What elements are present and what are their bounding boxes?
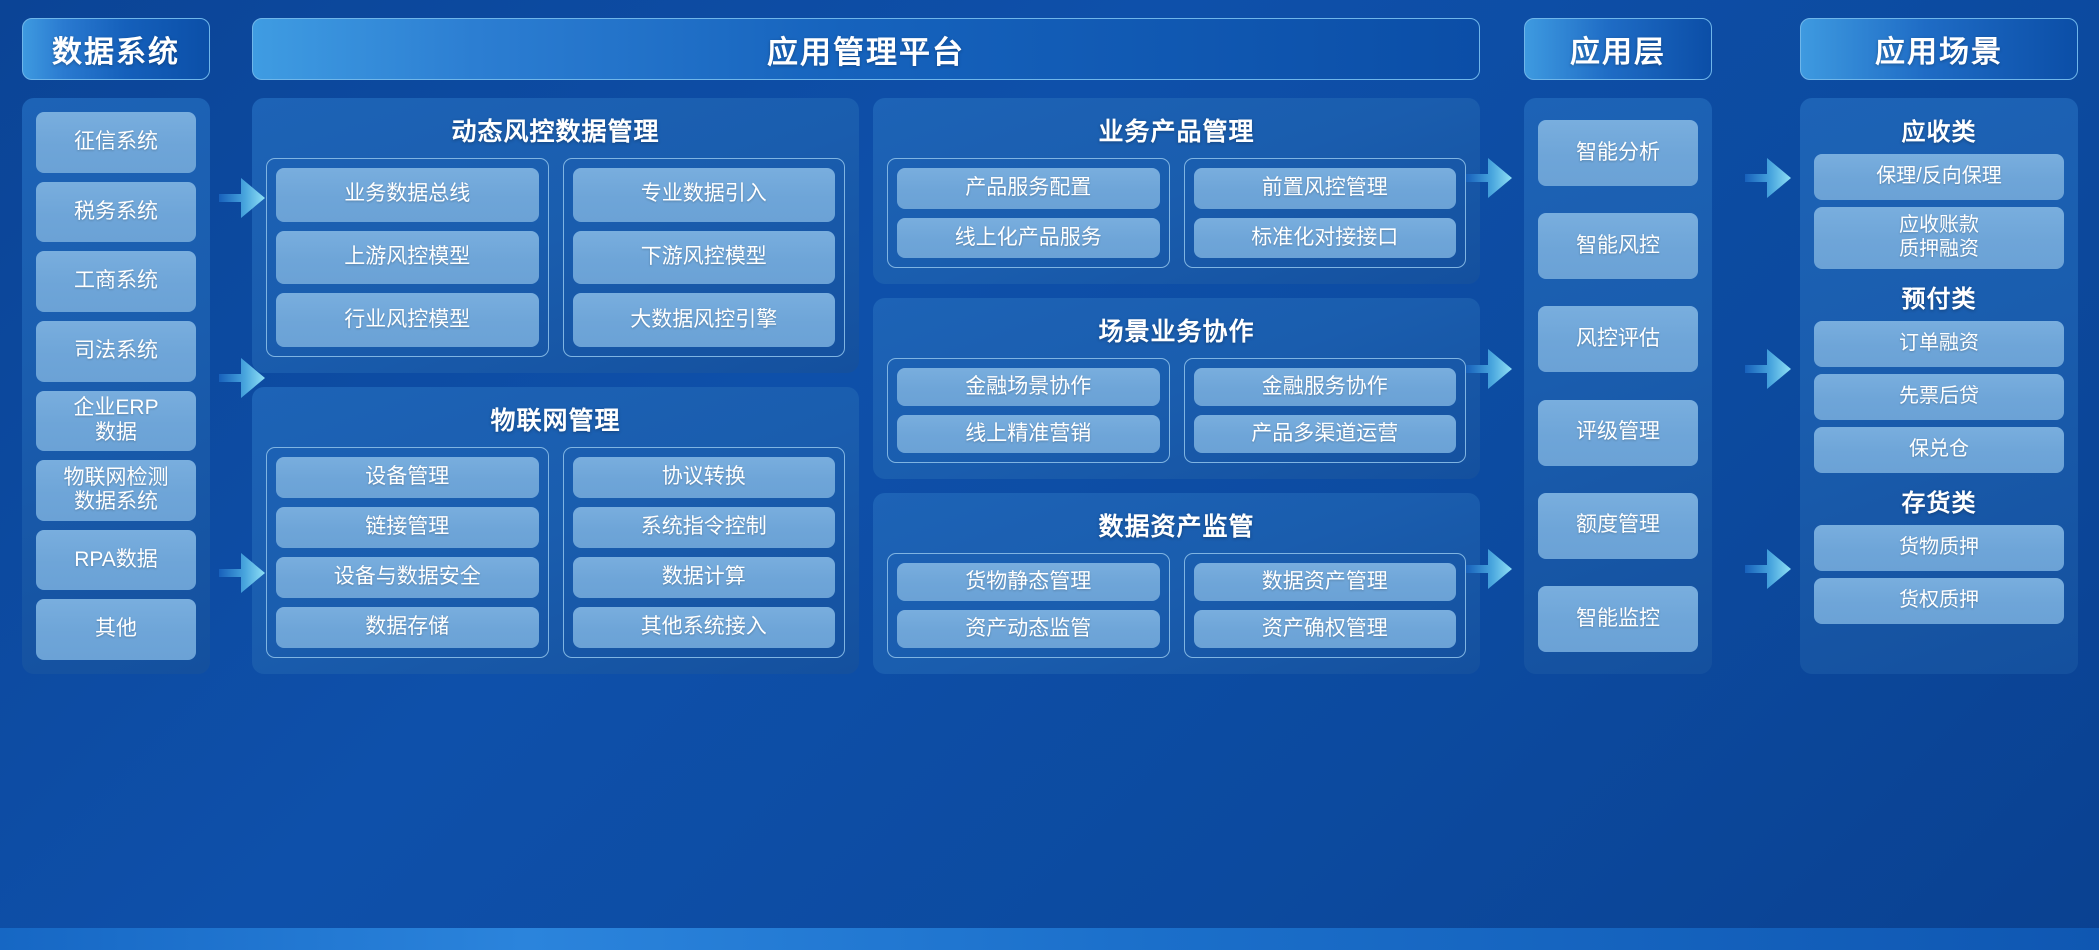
subcolumns-dynamic-risk: 业务数据总线 上游风控模型 行业风控模型 专业数据引入 下游风控模型 大数据风控… <box>266 158 845 357</box>
chip-device-management[interactable]: 设备管理 <box>276 457 539 498</box>
chip-order-financing[interactable]: 订单融资 <box>1814 321 2064 367</box>
group-title-dynamic-risk: 动态风控数据管理 <box>266 112 845 148</box>
chip-product-service-config[interactable]: 产品服务配置 <box>897 168 1160 209</box>
arrow-applayer-to-scenario-bot-icon <box>1745 543 1791 589</box>
column-application-layer: 应用层 智能分析 智能风控 风控评估 评级管理 额度管理 智能监控 <box>1524 18 1712 674</box>
subcolumns-iot: 设备管理 链接管理 设备与数据安全 数据存储 协议转换 系统指令控制 数据计算 … <box>266 447 845 658</box>
chip-credit-system[interactable]: 征信系统 <box>36 112 196 173</box>
header-application-layer: 应用层 <box>1524 18 1712 80</box>
chip-professional-data-intake[interactable]: 专业数据引入 <box>573 168 836 222</box>
arrow-platform-to-applayer-top-icon <box>1466 152 1512 198</box>
chip-intelligent-analysis[interactable]: 智能分析 <box>1538 120 1698 186</box>
panel-platform: 动态风控数据管理 业务数据总线 上游风控模型 行业风控模型 专业数据引入 下游风… <box>252 98 1480 674</box>
arrow-applayer-to-scenario-mid-icon <box>1745 343 1791 389</box>
chip-guaranteed-warehouse[interactable]: 保兑仓 <box>1814 427 2064 473</box>
subbox-data-asset-left: 货物静态管理 资产动态监管 <box>887 553 1170 658</box>
chip-business-data-bus[interactable]: 业务数据总线 <box>276 168 539 222</box>
chip-rpa-data[interactable]: RPA数据 <box>36 530 196 591</box>
chip-tax-system[interactable]: 税务系统 <box>36 182 196 243</box>
chip-asset-dynamic-supervision[interactable]: 资产动态监管 <box>897 610 1160 648</box>
chip-asset-ownership-management[interactable]: 资产确权管理 <box>1194 610 1457 648</box>
group-title-iot: 物联网管理 <box>266 401 845 437</box>
arrow-platform-to-applayer-bot-icon <box>1466 543 1512 589</box>
chip-credit-limit-management[interactable]: 额度管理 <box>1538 493 1698 559</box>
chip-data-storage[interactable]: 数据存储 <box>276 607 539 648</box>
chip-intelligent-monitoring[interactable]: 智能监控 <box>1538 586 1698 652</box>
chip-business-system[interactable]: 工商系统 <box>36 251 196 312</box>
group-business-product-management: 业务产品管理 产品服务配置 线上化产品服务 前置风控管理 标准化对接接口 <box>873 98 1480 284</box>
subcolumns-data-asset: 货物静态管理 资产动态监管 数据资产管理 资产确权管理 <box>887 553 1466 658</box>
arrow-applayer-to-scenario-top-icon <box>1745 152 1791 198</box>
scenario-group-title-prepaid: 预付类 <box>1814 279 2064 314</box>
chip-note-then-loan[interactable]: 先票后贷 <box>1814 374 2064 420</box>
subbox-scenario-collaboration-right: 金融服务协作 产品多渠道运营 <box>1184 358 1467 463</box>
subcolumns-scenario-collaboration: 金融场景协作 线上精准营销 金融服务协作 产品多渠道运营 <box>887 358 1466 463</box>
subbox-iot-left: 设备管理 链接管理 设备与数据安全 数据存储 <box>266 447 549 658</box>
chip-multichannel-operation[interactable]: 产品多渠道运营 <box>1194 415 1457 453</box>
column-platform: 应用管理平台 动态风控数据管理 业务数据总线 上游风控模型 行业风控模型 专业数… <box>252 18 1480 674</box>
platform-column-right: 业务产品管理 产品服务配置 线上化产品服务 前置风控管理 标准化对接接口 场景业… <box>873 98 1480 674</box>
chip-industry-risk-model[interactable]: 行业风控模型 <box>276 293 539 347</box>
chip-online-precision-marketing[interactable]: 线上精准营销 <box>897 415 1160 453</box>
arrow-data-to-platform-mid-icon <box>219 352 265 398</box>
chip-data-asset-management[interactable]: 数据资产管理 <box>1194 563 1457 601</box>
header-data-systems: 数据系统 <box>22 18 210 80</box>
header-scenarios: 应用场景 <box>1800 18 2078 80</box>
scenario-group-title-inventory: 存货类 <box>1814 483 2064 518</box>
chip-online-product-service[interactable]: 线上化产品服务 <box>897 218 1160 259</box>
subbox-business-product-right: 前置风控管理 标准化对接接口 <box>1184 158 1467 268</box>
chip-bigdata-risk-engine[interactable]: 大数据风控引擎 <box>573 293 836 347</box>
group-title-data-asset-supervision: 数据资产监管 <box>887 507 1466 543</box>
panel-scenarios: 应收类 保理/反向保理 应收账款 质押融资 预付类 订单融资 先票后贷 保兑仓 … <box>1800 98 2078 674</box>
arrow-data-to-platform-bottom-icon <box>219 547 265 593</box>
group-scenario-business-collaboration: 场景业务协作 金融场景协作 线上精准营销 金融服务协作 产品多渠道运营 <box>873 298 1480 479</box>
chip-upstream-risk-model[interactable]: 上游风控模型 <box>276 231 539 285</box>
chip-standard-interface[interactable]: 标准化对接接口 <box>1194 218 1457 259</box>
platform-column-left: 动态风控数据管理 业务数据总线 上游风控模型 行业风控模型 专业数据引入 下游风… <box>252 98 859 674</box>
subbox-dynamic-risk-left: 业务数据总线 上游风控模型 行业风控模型 <box>266 158 549 357</box>
chip-data-computation[interactable]: 数据计算 <box>573 557 836 598</box>
chip-financial-scenario-collab[interactable]: 金融场景协作 <box>897 368 1160 406</box>
chip-erp-data[interactable]: 企业ERP 数据 <box>36 391 196 452</box>
chip-link-management[interactable]: 链接管理 <box>276 507 539 548</box>
chip-protocol-conversion[interactable]: 协议转换 <box>573 457 836 498</box>
chip-preposed-risk-management[interactable]: 前置风控管理 <box>1194 168 1457 209</box>
subbox-iot-right: 协议转换 系统指令控制 数据计算 其他系统接入 <box>563 447 846 658</box>
chip-judicial-system[interactable]: 司法系统 <box>36 321 196 382</box>
arrow-data-to-platform-top-icon <box>219 172 265 218</box>
group-dynamic-risk-data-management: 动态风控数据管理 业务数据总线 上游风控模型 行业风控模型 专业数据引入 下游风… <box>252 98 859 373</box>
chip-other[interactable]: 其他 <box>36 599 196 660</box>
chip-intelligent-riskctrl[interactable]: 智能风控 <box>1538 213 1698 279</box>
group-iot-management: 物联网管理 设备管理 链接管理 设备与数据安全 数据存储 协议转换 系统指令控制… <box>252 387 859 674</box>
chip-iot-data-system[interactable]: 物联网检测 数据系统 <box>36 460 196 521</box>
subbox-data-asset-right: 数据资产管理 资产确权管理 <box>1184 553 1467 658</box>
bottom-accent-strip <box>0 928 2099 950</box>
chip-factoring-reverse-factoring[interactable]: 保理/反向保理 <box>1814 154 2064 200</box>
subbox-scenario-collaboration-left: 金融场景协作 线上精准营销 <box>887 358 1170 463</box>
column-scenarios: 应用场景 应收类 保理/反向保理 应收账款 质押融资 预付类 订单融资 先票后贷… <box>1800 18 2078 674</box>
chip-risk-assessment[interactable]: 风控评估 <box>1538 306 1698 372</box>
group-title-business-product: 业务产品管理 <box>887 112 1466 148</box>
panel-data-systems: 征信系统 税务系统 工商系统 司法系统 企业ERP 数据 物联网检测 数据系统 … <box>22 98 210 674</box>
chip-other-system-access[interactable]: 其他系统接入 <box>573 607 836 648</box>
chip-financial-service-collab[interactable]: 金融服务协作 <box>1194 368 1457 406</box>
chip-goods-static-management[interactable]: 货物静态管理 <box>897 563 1160 601</box>
subbox-business-product-left: 产品服务配置 线上化产品服务 <box>887 158 1170 268</box>
panel-application-layer: 智能分析 智能风控 风控评估 评级管理 额度管理 智能监控 <box>1524 98 1712 674</box>
header-platform: 应用管理平台 <box>252 18 1480 80</box>
architecture-diagram: 数据系统 征信系统 税务系统 工商系统 司法系统 企业ERP 数据 物联网检测 … <box>0 0 2099 950</box>
chip-device-data-security[interactable]: 设备与数据安全 <box>276 557 539 598</box>
chip-receivable-pledge-financing[interactable]: 应收账款 质押融资 <box>1814 207 2064 269</box>
chip-goods-pledge[interactable]: 货物质押 <box>1814 525 2064 571</box>
group-title-scenario-collaboration: 场景业务协作 <box>887 312 1466 348</box>
group-data-asset-supervision: 数据资产监管 货物静态管理 资产动态监管 数据资产管理 资产确权管理 <box>873 493 1480 674</box>
subbox-dynamic-risk-right: 专业数据引入 下游风控模型 大数据风控引擎 <box>563 158 846 357</box>
scenario-group-title-receivable: 应收类 <box>1814 112 2064 147</box>
chip-rating-management[interactable]: 评级管理 <box>1538 400 1698 466</box>
arrow-platform-to-applayer-mid-icon <box>1466 343 1512 389</box>
chip-cargo-right-pledge[interactable]: 货权质押 <box>1814 578 2064 624</box>
subcolumns-business-product: 产品服务配置 线上化产品服务 前置风控管理 标准化对接接口 <box>887 158 1466 268</box>
chip-downstream-risk-model[interactable]: 下游风控模型 <box>573 231 836 285</box>
column-data-systems: 数据系统 征信系统 税务系统 工商系统 司法系统 企业ERP 数据 物联网检测 … <box>22 18 210 674</box>
chip-system-command-control[interactable]: 系统指令控制 <box>573 507 836 548</box>
